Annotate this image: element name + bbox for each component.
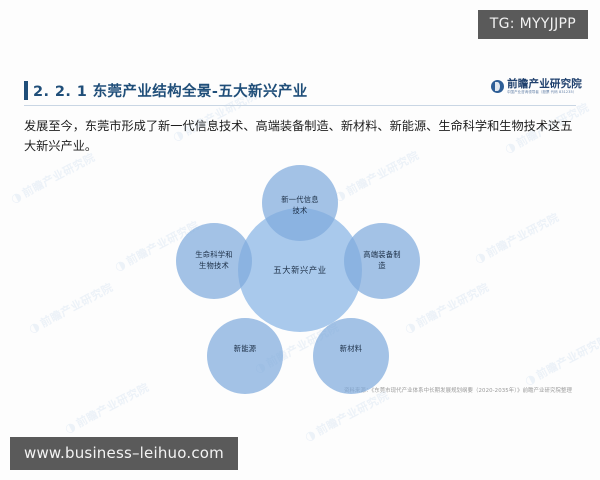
title-accent-bar (24, 81, 28, 100)
industry-cluster-diagram: 五大新兴产业 新一代信息 技术 高端装备制 造 新材料 新能源 生命科学和 生物… (0, 160, 600, 375)
diagram-node-high-end-equipment: 高端装备制 造 (344, 223, 420, 299)
brand-text: 前瞻产业研究院 中国产业咨询领导者（股票 代码 831235） (507, 79, 582, 95)
diagram-node-life-science: 生命科学和 生物技术 (176, 223, 252, 299)
diagram-node-new-generation-it: 新一代信息 技术 (262, 165, 338, 241)
brand-subtitle: 中国产业咨询领导者（股票 代码 831235） (507, 91, 579, 94)
diagram-node-label: 新能源 (234, 344, 257, 355)
page-title: 2. 2. 1 东莞产业结构全景-五大新兴产业 (33, 80, 308, 101)
diagram-node-label: 新一代信息 技术 (281, 195, 318, 216)
body-paragraph: 发展至今，东莞市形成了新一代信息技术、高端装备制造、新材料、新能源、生命科学和生… (24, 117, 574, 157)
tg-watermark-badge: TG: MYYJJPP (478, 10, 588, 39)
url-watermark-banner: www.business–leihuo.com (10, 437, 238, 470)
brand-name: 前瞻产业研究院 (507, 79, 582, 90)
title-divider (24, 105, 576, 106)
diagram-node-label: 生命科学和 生物技术 (195, 250, 232, 271)
diagram-node-label: 高端装备制 造 (363, 250, 400, 271)
diagram-node-new-materials: 新材料 (313, 318, 389, 394)
slide-page: 前瞻产业研究院 前瞻产业研究院 前瞻产业研究院 前瞻产业研究院 前瞻产业研究院 … (0, 0, 600, 480)
background-watermark: 前瞻产业研究院 (302, 387, 392, 445)
heading-row: 2. 2. 1 东莞产业结构全景-五大新兴产业 前瞻产业研究院 中国产业咨询领导… (0, 80, 600, 106)
background-watermark: 前瞻产业研究院 (62, 379, 152, 437)
diagram-node-label: 新材料 (340, 344, 363, 355)
brand-logo: 前瞻产业研究院 中国产业咨询领导者（股票 代码 831235） (491, 79, 582, 95)
source-citation: 资料来源：《东莞市现代产业体系中长期发展规划纲要（2020-2035年）》前瞻产… (344, 386, 572, 394)
brand-mark-icon (491, 80, 504, 93)
diagram-node-new-energy: 新能源 (207, 318, 283, 394)
diagram-node-label: 五大新兴产业 (273, 264, 326, 276)
